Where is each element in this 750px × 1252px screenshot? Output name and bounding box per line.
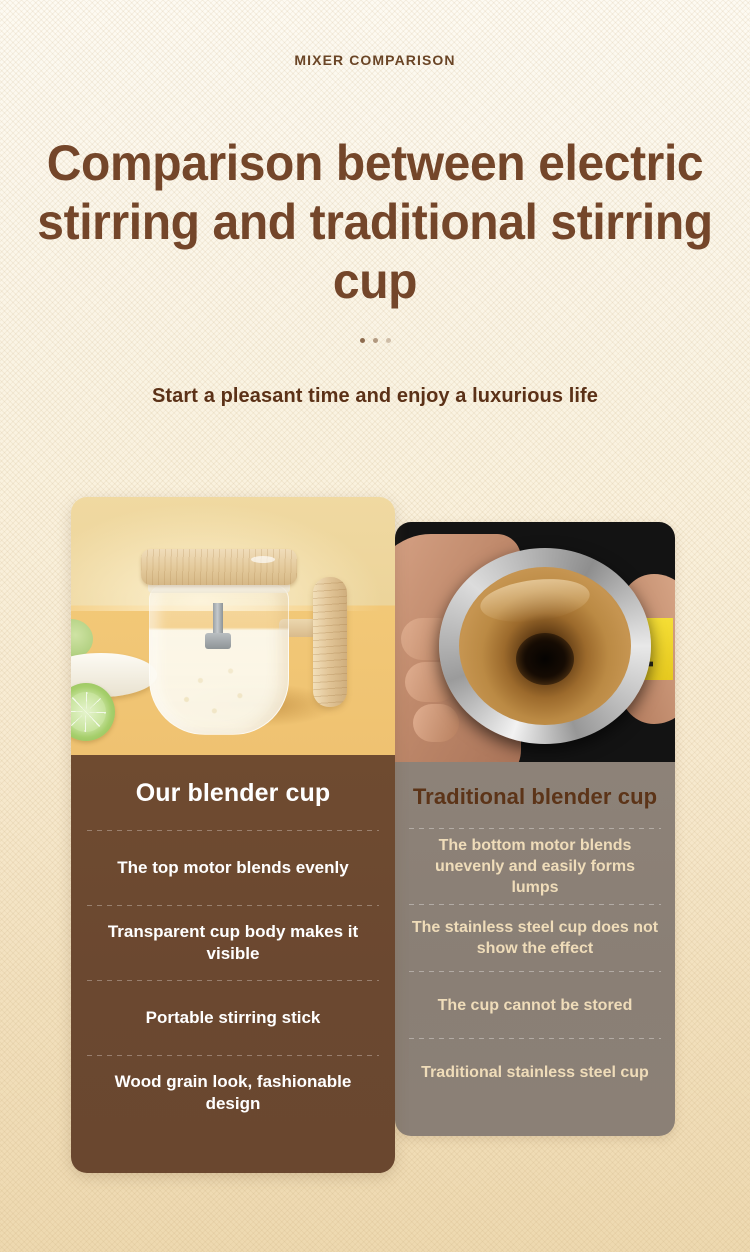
our-feature-panel: Our blender cup The top motor blends eve… xyxy=(71,755,395,1173)
our-feature-item: The top motor blends evenly xyxy=(87,831,379,905)
dot-separator xyxy=(0,338,750,343)
our-feature-item: Transparent cup body makes it visible xyxy=(87,906,379,980)
separator-dot xyxy=(360,338,365,343)
traditional-feature-item: The cup cannot be stored xyxy=(409,972,661,1038)
traditional-photo-scene xyxy=(395,522,675,762)
motor-shaft xyxy=(213,603,223,637)
eyebrow-label: MIXER COMPARISON xyxy=(0,52,750,68)
steel-cup-rim xyxy=(439,548,651,744)
traditional-card-title: Traditional blender cup xyxy=(409,784,661,828)
our-card-title: Our blender cup xyxy=(87,779,379,830)
promo-page: MIXER COMPARISON Comparison between elec… xyxy=(0,0,750,1252)
our-feature-item: Portable stirring stick xyxy=(87,981,379,1055)
traditional-feature-item: Traditional stainless steel cup xyxy=(409,1039,661,1105)
our-photo-scene xyxy=(71,497,395,755)
motor-nut xyxy=(205,633,231,649)
traditional-feature-panel: Traditional blender cup The bottom motor… xyxy=(395,762,675,1136)
page-title: Comparison between electric stirring and… xyxy=(36,134,714,311)
traditional-cup-card: Traditional blender cup The bottom motor… xyxy=(395,522,675,1136)
separator-dot xyxy=(373,338,378,343)
finger xyxy=(413,704,459,742)
wooden-handle xyxy=(313,577,347,707)
blender-cup xyxy=(129,537,311,737)
coffee-vortex xyxy=(516,633,574,685)
traditional-cup-photo xyxy=(395,522,675,762)
our-cup-card: Our blender cup The top motor blends eve… xyxy=(71,497,395,1173)
traditional-feature-item: The stainless steel cup does not show th… xyxy=(409,905,661,971)
our-cup-photo xyxy=(71,497,395,755)
coffee-surface xyxy=(459,567,631,725)
wooden-lid xyxy=(141,549,297,585)
traditional-feature-item: The bottom motor blends unevenly and eas… xyxy=(409,829,661,904)
page-subtitle: Start a pleasant time and enjoy a luxuri… xyxy=(0,385,750,408)
separator-dot xyxy=(386,338,391,343)
our-feature-item: Wood grain look, fashionable design xyxy=(87,1056,379,1130)
